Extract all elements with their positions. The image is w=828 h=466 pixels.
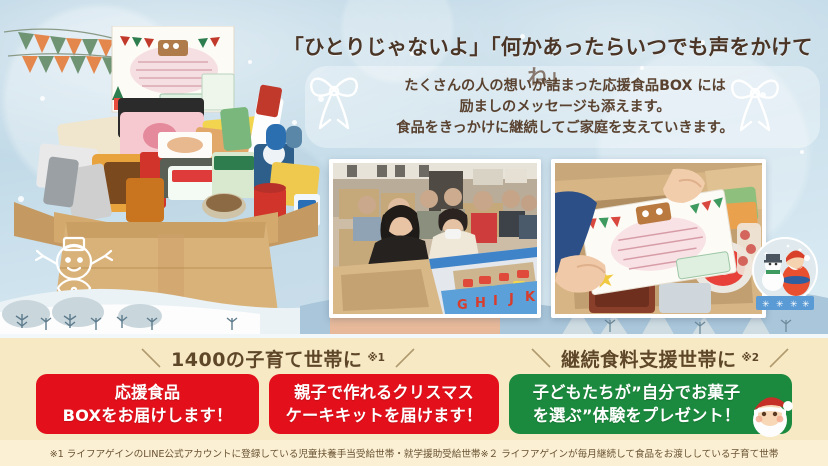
callout-3-line-2: を選ぶ”体験をプレゼント！	[533, 404, 741, 427]
callout-2-line-2: ケーキキットを届けます！	[286, 404, 483, 427]
section-title-1: 1400の子育て世帯に	[171, 345, 362, 372]
message-line-1: たくさんの人の想いが詰まった応援食品BOX には	[330, 76, 800, 97]
slash-left-icon	[140, 347, 166, 369]
callout-1-line-1: 応援食品	[63, 381, 233, 404]
message-line-2: 励ましのメッセージも添えます。	[330, 97, 800, 118]
footnote-text: ※1 ライフアゲインのLINE公式アカウントに登録している児童扶養手当受給世帯・…	[50, 446, 779, 460]
callout-box-food-delivery: 応援食品 BOXをお届けします！	[36, 374, 259, 434]
svg-text:✳: ✳	[790, 300, 798, 310]
bottom-section: 1400の子育て世帯に ※1 継続食料支援世帯に ※2 応援	[0, 338, 828, 466]
section-note-1: ※1	[367, 352, 385, 364]
slash-left-icon-2	[530, 347, 556, 369]
snow-globe-decoration: ✳✳ ✳✳	[748, 234, 822, 318]
svg-text:✳: ✳	[776, 300, 784, 310]
footnote-strip: ※1 ライフアゲインのLINE公式アカウントに登録している児童扶養手当受給世帯・…	[0, 440, 828, 466]
photo-child-with-message-card	[551, 159, 766, 318]
svg-text:I: I	[493, 294, 498, 309]
photo-volunteers-packing: GH IJ K	[329, 159, 541, 318]
svg-text:H: H	[475, 296, 486, 311]
svg-text:K: K	[525, 290, 536, 305]
callout-1-line-2: BOXをお届けします！	[63, 404, 233, 427]
callout-box-choose-sweets: 子どもたちが”自分でお菓子 を選ぶ”体験をプレゼント！	[509, 374, 792, 434]
svg-text:✳: ✳	[802, 300, 810, 310]
message-text-block: たくさんの人の想いが詰まった応援食品BOX には 励ましのメッセージも添えます。…	[330, 76, 800, 139]
section-note-2: ※2	[742, 352, 760, 364]
campaign-banner: 「ひとりじゃないよ」「何かあったらいつでも声をかけてね」 たくさんの人の	[0, 0, 828, 466]
callout-boxes: 応援食品 BOXをお届けします！ 親子で作れるクリスマス ケーキキットを届けます…	[0, 374, 828, 438]
santa-face-icon	[742, 386, 798, 438]
slash-right-icon	[390, 347, 416, 369]
section-header-1: 1400の子育て世帯に ※1	[118, 344, 438, 372]
message-line-3: 食品をきっかけに継続してご家庭を支えていきます。	[330, 118, 800, 139]
svg-text:G: G	[457, 298, 468, 313]
section-headers: 1400の子育て世帯に ※1 継続食料支援世帯に ※2	[0, 344, 828, 372]
svg-text:✳: ✳	[762, 300, 770, 310]
callout-3-line-1: 子どもたちが”自分でお菓子	[533, 381, 741, 404]
section-title-2: 継続食料支援世帯に	[561, 345, 737, 372]
section-header-2: 継続食料支援世帯に ※2	[500, 344, 820, 372]
slash-right-icon-2	[764, 347, 790, 369]
callout-box-cake-kit: 親子で作れるクリスマス ケーキキットを届けます！	[269, 374, 499, 434]
svg-text:J: J	[508, 292, 514, 307]
callout-2-line-1: 親子で作れるクリスマス	[286, 381, 483, 404]
